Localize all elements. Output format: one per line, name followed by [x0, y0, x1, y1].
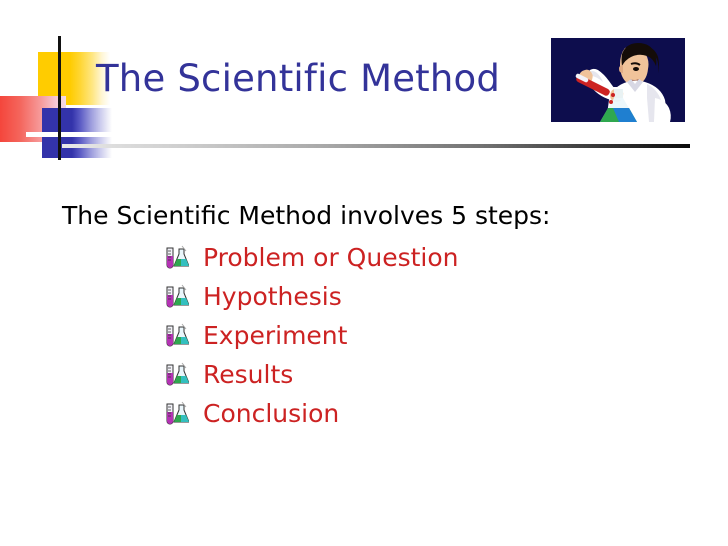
- lab-glassware-icon: [163, 323, 189, 349]
- list-item: Results: [163, 355, 459, 394]
- step-label: Results: [203, 361, 293, 389]
- list-item: Problem or Question: [163, 238, 459, 277]
- title-divider-rule: [62, 144, 690, 148]
- list-item: Hypothesis: [163, 277, 459, 316]
- slide: The Scientific Method: [0, 0, 728, 546]
- lab-glassware-icon: [163, 245, 189, 271]
- lab-glassware-icon: [163, 362, 189, 388]
- slide-title: The Scientific Method: [96, 57, 500, 101]
- scientist-pouring-flask-image: [551, 38, 685, 122]
- list-item: Experiment: [163, 316, 459, 355]
- steps-list: Problem or Question Hypothesis: [163, 238, 459, 433]
- step-label: Conclusion: [203, 400, 339, 428]
- vertical-black-bar-shape: [58, 36, 61, 160]
- step-label: Problem or Question: [203, 244, 459, 272]
- step-label: Experiment: [203, 322, 347, 350]
- white-slash-shape: [26, 132, 112, 137]
- lead-text: The Scientific Method involves 5 steps:: [62, 201, 550, 231]
- lab-glassware-icon: [163, 284, 189, 310]
- lab-glassware-icon: [163, 401, 189, 427]
- list-item: Conclusion: [163, 394, 459, 433]
- step-label: Hypothesis: [203, 283, 342, 311]
